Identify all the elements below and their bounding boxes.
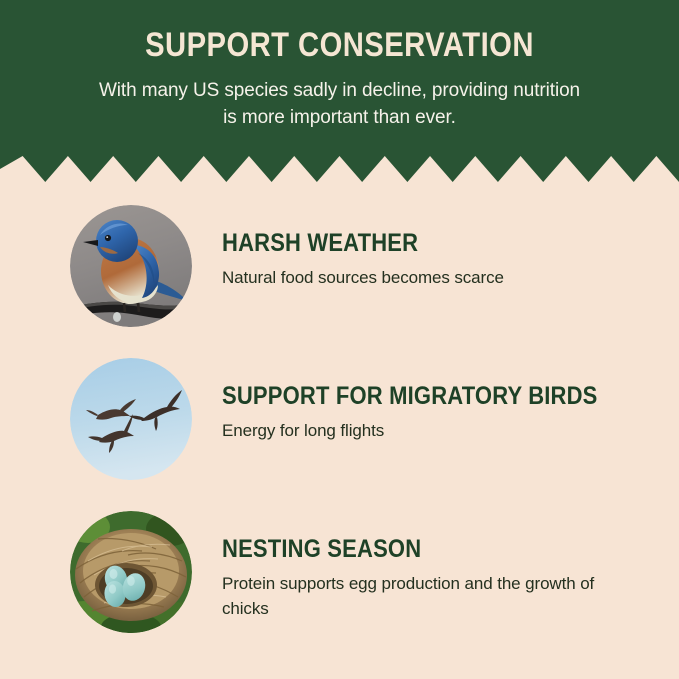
feature-list: HARSH WEATHER Natural food sources becom… xyxy=(0,196,679,655)
feature-title: NESTING SEASON xyxy=(222,536,592,564)
bluebird-image xyxy=(70,205,192,327)
feature-description: Protein supports egg production and the … xyxy=(222,571,642,623)
feature-text-migratory-birds: SUPPORT FOR MIGRATORY BIRDS Energy for l… xyxy=(222,383,642,443)
feature-description: Natural food sources becomes scarce xyxy=(222,265,642,291)
feature-title: HARSH WEATHER xyxy=(222,230,592,258)
header-banner: SUPPORT CONSERVATION With many US specie… xyxy=(0,0,679,182)
page-title: SUPPORT CONSERVATION xyxy=(48,27,632,64)
feature-row-harsh-weather: HARSH WEATHER Natural food sources becom… xyxy=(0,196,679,349)
nest-with-eggs-image xyxy=(70,511,192,633)
flying-birds-image xyxy=(70,358,192,480)
feature-description: Energy for long flights xyxy=(222,418,642,444)
birds-in-flight-photo-illustration xyxy=(70,358,192,480)
feature-title: SUPPORT FOR MIGRATORY BIRDS xyxy=(222,383,592,411)
feature-text-nesting-season: NESTING SEASON Protein supports egg prod… xyxy=(222,536,642,622)
feature-row-migratory-birds: SUPPORT FOR MIGRATORY BIRDS Energy for l… xyxy=(0,349,679,502)
header-content: SUPPORT CONSERVATION With many US specie… xyxy=(0,0,679,132)
page-subtitle: With many US species sadly in decline, p… xyxy=(0,78,679,132)
zigzag-divider xyxy=(0,156,679,182)
birds-nest-eggs-photo-illustration xyxy=(70,511,192,633)
feature-row-nesting-season: NESTING SEASON Protein supports egg prod… xyxy=(0,502,679,655)
feature-text-harsh-weather: HARSH WEATHER Natural food sources becom… xyxy=(222,230,642,290)
eastern-bluebird-photo-illustration xyxy=(70,205,192,327)
